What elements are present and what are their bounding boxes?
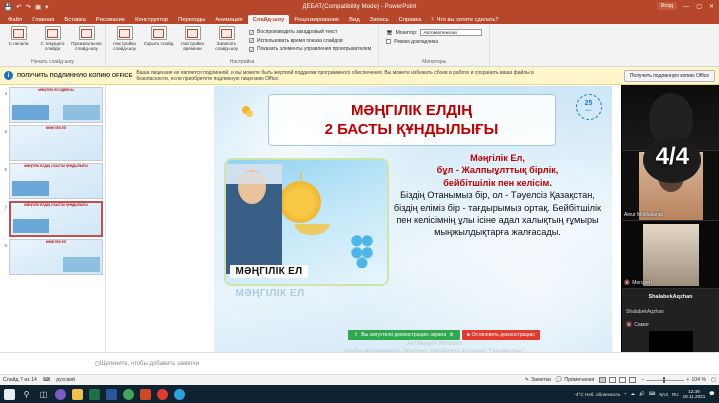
reading-view-icon[interactable] xyxy=(619,377,626,383)
notes-button[interactable]: ✎ Заметки xyxy=(525,377,551,383)
checkbox-presenter-view-label: Режим докладчика xyxy=(394,39,438,45)
tab-slideshow[interactable]: Слайд-шоу xyxy=(248,15,290,24)
thumbnail-image xyxy=(13,219,49,233)
monitor-controls: 🖥 Монитор: Автоматически Режим докладчик… xyxy=(382,26,486,45)
thumbnail-body xyxy=(10,131,102,136)
participant-name: Самат xyxy=(634,322,649,328)
monitor-label: Монитор: xyxy=(396,30,418,36)
word-icon[interactable] xyxy=(106,389,117,400)
chrome-icon[interactable] xyxy=(123,389,134,400)
fit-to-window-icon[interactable]: ▢ xyxy=(711,377,716,383)
participant-name-label: Ainur Moldakanat xyxy=(624,212,663,218)
camera-off-placeholder xyxy=(649,331,693,352)
activation-line-1: Активация Windows xyxy=(344,340,525,348)
chevron-up-icon[interactable]: ^ xyxy=(624,392,626,397)
kazakhstan-sun-icon xyxy=(279,181,321,223)
setup-show-label: Настройка слайд-шоу xyxy=(109,41,140,51)
checkbox-use-timings-label: Использовать время показа слайдов xyxy=(257,38,343,44)
rehearse-timings-icon xyxy=(185,26,201,40)
thumbnail-number: 8 xyxy=(2,239,7,248)
thumbnail-image-2 xyxy=(63,257,100,272)
from-current-slide-button[interactable]: С текущего слайда xyxy=(37,26,68,51)
minimize-icon[interactable]: — xyxy=(680,4,692,10)
president-portrait xyxy=(226,164,282,274)
zoom-out-button[interactable]: − xyxy=(641,377,644,383)
thumbnail-number: 6 xyxy=(2,163,7,172)
record-slideshow-label: Записать слайд-шоу xyxy=(211,41,242,51)
thumbnail-number: 4 xyxy=(2,87,7,96)
body-red-line-2: бұл - Жалпыұлттық бірлік, xyxy=(437,165,559,175)
thumbnail-preview-selected[interactable]: МӘҢГІЛІК ЕЛДІҢ 2 БАСТЫ ҚҰНДЫЛЫҒЫ xyxy=(9,201,103,237)
start-icon[interactable] xyxy=(4,389,15,400)
title-bar: 💾 ↶ ↷ ▣ ▾ ДЕБАТ(Compatibility Mode) - Po… xyxy=(0,0,719,13)
telegram-icon[interactable] xyxy=(174,389,185,400)
kazakhstan-eagle-icon xyxy=(277,224,347,246)
checkbox-presenter-view[interactable]: Режим докладчика xyxy=(386,39,482,45)
slideshow-current-icon xyxy=(45,26,61,40)
language-indicator-2[interactable]: RU xyxy=(672,392,679,397)
checkbox-use-timings[interactable]: Использовать время показа слайдов xyxy=(249,38,371,44)
slideshow-start-icon xyxy=(11,26,27,40)
checkbox-play-narrations[interactable]: Воспроизводить закадровый текст xyxy=(249,29,371,35)
tab-design[interactable]: Конструктор xyxy=(130,15,173,24)
thumbnail-title: МӘҢГІЛІК ЕЛДІҢ 2 БАСТЫ ҚҰНДЫЛЫҒЫ xyxy=(11,203,101,208)
active-speaker-header: ShalabekAqzhan xyxy=(622,289,719,305)
tab-home[interactable]: Главная xyxy=(27,15,59,24)
slide-thumbnail-5[interactable]: 5 МӘҢГІЛІК ЕЛ xyxy=(2,125,103,161)
participant-name: ShalabekAqzhan xyxy=(626,309,664,315)
ribbon-group-setup: Настройка слайд-шоу Скрыть слайд Настрой… xyxy=(106,24,379,66)
gear-icon[interactable]: ⚙ xyxy=(449,332,453,338)
maximize-icon[interactable]: ▢ xyxy=(693,3,705,10)
video-tile-shalabek[interactable]: ShalabekAqzhan 🔇 Самат xyxy=(622,305,719,352)
video-participants-panel[interactable]: Ainur Moldakanat 🔇 Meruyert ShalabekAqzh… xyxy=(621,85,719,352)
body-black-text: Біздің Отанымыз бір, ол - Тәуелсіз Қазақ… xyxy=(394,190,601,237)
checkbox-icon[interactable] xyxy=(386,39,391,44)
tab-review[interactable]: Рецензирование xyxy=(289,15,344,24)
thumbnail-title: МӘҢГІЛІК ЕЛ ИДЕЯСЫ xyxy=(10,88,102,93)
tab-transitions[interactable]: Переходы xyxy=(173,15,210,24)
system-tray[interactable]: -4°C Неб. облачность ^ ☁ 🔊 ⌨ ҚАЗ RU 12:3… xyxy=(574,389,715,399)
muted-mic-icon: 🔇 xyxy=(626,322,632,328)
tell-me-search[interactable]: ☿ Что вы хотите сделать? xyxy=(426,15,502,24)
zoom-level: 104 % xyxy=(691,377,706,383)
anniversary-seal: 25 жыл xyxy=(576,94,602,120)
sun-decoration-icon xyxy=(230,94,262,126)
sorter-view-icon[interactable] xyxy=(609,377,616,383)
seal-text: жыл xyxy=(586,107,592,114)
participant-name: Meruyert xyxy=(632,280,652,286)
from-current-label: С текущего слайда xyxy=(37,41,68,51)
document-title: ДЕБАТ(Compatibility Mode) - PowerPoint xyxy=(0,4,719,10)
status-bar: Слайд 7 из 14 ⌨ русский ✎ Заметки 💬 Прим… xyxy=(0,374,719,385)
genuine-office-warning-bar: i ПОЛУЧИТЬ ПОДЛИННУЮ КОПИЮ OFFICE Ваша л… xyxy=(0,67,719,85)
close-icon[interactable]: ✕ xyxy=(706,3,717,10)
zoom-in-button[interactable]: + xyxy=(686,377,689,383)
clock-date: 18.11.2021 xyxy=(683,394,706,399)
slide-title-line-1: МӘҢГІЛІК ЕЛДІҢ xyxy=(351,101,472,120)
explorer-icon[interactable] xyxy=(72,389,83,400)
participant-counter: 4/4 xyxy=(656,143,689,171)
thumbnail-number: 7 xyxy=(2,201,7,210)
screen-share-banner[interactable]: ⇧ Вы запустили демонстрацию экрана ⚙ ■ О… xyxy=(348,330,540,340)
stop-sharing-label: Остановить демонстрацию xyxy=(472,332,535,338)
setup-slideshow-button[interactable]: Настройка слайд-шоу xyxy=(109,26,140,51)
tab-insert[interactable]: Вставка xyxy=(59,15,91,24)
body-red-line-1: Мәңгілік Ел, xyxy=(470,153,525,163)
share-icon: ⇧ xyxy=(354,332,358,338)
thumbnail-image xyxy=(12,105,49,120)
checkbox-icon[interactable] xyxy=(249,47,254,52)
thumbnail-preview[interactable]: МӘҢГІЛІК ЕЛДІҢ 2 БАСТЫ ҚҰНДЫЛЫҒЫ xyxy=(9,163,103,199)
comments-button-label: Примечания xyxy=(564,377,594,383)
muted-mic-icon: 🔇 xyxy=(624,280,630,286)
language-label[interactable]: русский xyxy=(56,377,75,383)
status-bar-right: ✎ Заметки 💬 Примечания − + 104 % ▢ xyxy=(525,377,716,383)
notes-button-label: Заметки xyxy=(531,377,551,383)
screen-share-text: Вы запустили демонстрацию экрана xyxy=(361,332,446,338)
powerpoint-icon[interactable] xyxy=(140,389,151,400)
windows-activation-watermark: Активация Windows Чтобы активировать Win… xyxy=(344,340,525,352)
thumbnail-number: 5 xyxy=(2,125,7,134)
powerpoint-window: 💾 ↶ ↷ ▣ ▾ ДЕБАТ(Compatibility Mode) - Po… xyxy=(0,0,719,403)
windows-taskbar[interactable]: ⚲ ◫ -4°C Неб. облачность ^ ☁ 🔊 ⌨ ҚАЗ RU … xyxy=(0,385,719,403)
rehearse-timings-button[interactable]: Настройка времени xyxy=(177,26,208,51)
image-caption-shadow: МӘҢГІЛІК ЕЛ xyxy=(236,288,305,299)
thumbnail-title: МӘҢГІЛІК ЕЛ xyxy=(10,240,102,245)
participant-name: Ainur Moldakanat xyxy=(624,212,663,218)
group-title-monitors: Мониторы xyxy=(382,59,486,66)
stop-sharing-button[interactable]: ■ Остановить демонстрацию xyxy=(462,330,540,340)
work-area: 4 МӘҢГІЛІК ЕЛ ИДЕЯСЫ 5 МӘҢГІЛІК ЕЛ 6 МӘҢ… xyxy=(0,85,719,352)
slide-image-flag-portrait[interactable]: МӘҢГІЛІК ЕЛ xyxy=(224,158,389,286)
notes-resize-handle[interactable] xyxy=(95,361,100,366)
slide-title[interactable]: МӘҢГІЛІК ЕЛДІҢ 2 БАСТЫ ҚҰНДЫЛЫҒЫ xyxy=(268,94,556,146)
warning-headline: ПОЛУЧИТЬ ПОДЛИННУЮ КОПИЮ OFFICE xyxy=(17,73,132,79)
tab-animations[interactable]: Анимация xyxy=(210,15,247,24)
slide-counter[interactable]: Слайд 7 из 14 xyxy=(3,377,37,383)
from-beginning-label: С начала xyxy=(9,41,29,46)
notes-pane[interactable]: Щелкните, чтобы добавить заметки xyxy=(0,352,719,374)
custom-show-icon xyxy=(79,26,95,40)
task-view-icon[interactable]: ◫ xyxy=(38,389,49,400)
slide-body-text[interactable]: Мәңгілік Ел, бұл - Жалпыұлттық бірлік, б… xyxy=(392,152,604,239)
tab-record[interactable]: Запись xyxy=(365,15,394,24)
from-beginning-button[interactable]: С начала xyxy=(3,26,34,46)
body-red-line-3: бейбітшілік пен келісім xyxy=(443,178,549,188)
checkbox-show-media-controls[interactable]: Показать элементы управления проигрывате… xyxy=(249,46,371,52)
tab-help[interactable]: Справка xyxy=(394,15,427,24)
thumbnail-image-2 xyxy=(63,105,100,120)
monitor-selector-row[interactable]: 🖥 Монитор: Автоматически xyxy=(386,29,482,36)
zoom-icon[interactable] xyxy=(157,389,168,400)
video-tile-meruyert[interactable]: 🔇 Meruyert xyxy=(622,221,719,289)
rehearse-timings-label: Настройка времени xyxy=(177,41,208,51)
record-slideshow-icon xyxy=(219,26,235,40)
keyboard-icon[interactable]: ⌨ xyxy=(649,391,656,397)
tell-me-label: Что вы хотите сделать? xyxy=(437,17,499,23)
participant-name-label: 🔇 Самат xyxy=(626,322,649,328)
setup-show-icon xyxy=(117,26,133,40)
hide-slide-icon xyxy=(151,26,167,40)
slideshow-view-icon[interactable] xyxy=(629,377,636,383)
window-controls[interactable]: — ▢ ✕ xyxy=(680,0,717,13)
normal-view-icon[interactable] xyxy=(599,377,606,383)
slide-thumbnail-8[interactable]: 8 МӘҢГІЛІК ЕЛ xyxy=(2,239,103,275)
notification-icon[interactable]: 💬 xyxy=(709,391,715,397)
checkbox-icon[interactable] xyxy=(249,38,254,43)
sound-icon[interactable]: 🔊 xyxy=(639,391,645,397)
tab-draw[interactable]: Рисование xyxy=(91,15,130,24)
setup-checkbox-list: Воспроизводить закадровый текст Использо… xyxy=(245,26,375,52)
participant-name-label: 🔇 Meruyert xyxy=(624,280,652,286)
ribbon-group-monitors: 🖥 Монитор: Автоматически Режим докладчик… xyxy=(379,24,490,66)
record-slideshow-button[interactable]: Записать слайд-шоу xyxy=(211,26,242,51)
slide-thumbnail-7[interactable]: 7 МӘҢГІЛІК ЕЛДІҢ 2 БАСТЫ ҚҰНДЫЛЫҒЫ xyxy=(2,201,103,237)
zoom-slider[interactable]: − + 104 % xyxy=(641,377,706,383)
lightbulb-icon: ☿ xyxy=(430,17,434,23)
thumbnail-preview[interactable]: МӘҢГІЛІК ЕЛ xyxy=(9,125,103,161)
language-indicator[interactable]: ҚАЗ xyxy=(660,392,668,397)
ornament-icon xyxy=(349,234,375,268)
excel-icon[interactable] xyxy=(89,389,100,400)
monitor-icon: 🖥 xyxy=(386,30,392,36)
tab-view[interactable]: Вид xyxy=(344,15,365,24)
checkbox-play-narrations-label: Воспроизводить закадровый текст xyxy=(257,29,337,35)
hide-slide-label: Скрыть слайд xyxy=(144,41,174,46)
get-genuine-office-button[interactable]: Получить подлинную копию Office xyxy=(624,70,715,82)
language-icon[interactable]: ⌨ xyxy=(43,377,51,383)
weather-widget[interactable]: -4°C Неб. облачность xyxy=(574,392,620,397)
taskbar-clock[interactable]: 12:39 18.11.2021 xyxy=(683,389,706,399)
group-title-setup: Настройка xyxy=(109,59,375,66)
monitor-dropdown[interactable]: Автоматически xyxy=(420,29,482,36)
slide-title-line-2: 2 БАСТЫ ҚҰНДЫЛЫҒЫ xyxy=(325,120,499,139)
comment-icon: 💬 xyxy=(556,377,562,383)
view-buttons[interactable] xyxy=(599,377,636,383)
checkbox-show-media-controls-label: Показать элементы управления проигрывате… xyxy=(257,46,371,52)
zoom-track[interactable] xyxy=(646,380,684,381)
custom-show-label: Произвольное слайд-шоу xyxy=(71,41,102,51)
slide-thumbnail-pane[interactable]: 4 МӘҢГІЛІК ЕЛ ИДЕЯСЫ 5 МӘҢГІЛІК ЕЛ 6 МӘҢ… xyxy=(0,85,106,352)
custom-slideshow-button[interactable]: Произвольное слайд-шоу xyxy=(71,26,102,51)
thumbnail-preview[interactable]: МӘҢГІЛІК ЕЛ xyxy=(9,239,103,275)
warning-message: Ваша лицензия не является подлинной, и в… xyxy=(136,70,556,82)
info-icon: i xyxy=(4,71,13,80)
network-icon[interactable]: ☁ xyxy=(631,391,636,397)
notes-placeholder: Щелкните, чтобы добавить заметки xyxy=(100,361,199,367)
slide-thumbnail-6[interactable]: 6 МӘҢГІЛІК ЕЛДІҢ 2 БАСТЫ ҚҰНДЫЛЫҒЫ xyxy=(2,163,103,199)
tab-file[interactable]: Файл xyxy=(3,15,27,24)
thumbnail-preview[interactable]: МӘҢГІЛІК ЕЛ ИДЕЯСЫ xyxy=(9,87,103,123)
screen-share-status[interactable]: ⇧ Вы запустили демонстрацию экрана ⚙ xyxy=(348,330,460,340)
image-caption: МӘҢГІЛІК ЕЛ xyxy=(230,265,309,278)
search-icon[interactable]: ⚲ xyxy=(21,389,32,400)
thumbnail-image xyxy=(12,181,49,196)
seal-number: 25 xyxy=(585,100,593,107)
checkbox-icon[interactable] xyxy=(249,30,254,35)
stop-icon: ■ xyxy=(467,332,470,338)
ribbon-body: С начала С текущего слайда Произвольное … xyxy=(0,24,719,67)
ribbon-tabs[interactable]: Файл Главная Вставка Рисование Конструкт… xyxy=(0,13,719,24)
notes-icon: ✎ xyxy=(525,377,529,383)
hide-slide-button[interactable]: Скрыть слайд xyxy=(143,26,174,46)
current-slide[interactable]: 25 жыл МӘҢГІЛІК ЕЛДІҢ 2 БАСТЫ ҚҰНДЫЛЫҒЫ … xyxy=(214,86,612,352)
cortana-icon[interactable] xyxy=(55,389,66,400)
thumbnail-title: МӘҢГІЛІК ЕЛДІҢ 2 БАСТЫ ҚҰНДЫЛЫҒЫ xyxy=(10,164,102,169)
sign-in-button[interactable]: Вход xyxy=(657,2,677,10)
ribbon-group-start-slideshow: С начала С текущего слайда Произвольное … xyxy=(0,24,106,66)
comments-button[interactable]: 💬 Примечания xyxy=(556,377,594,383)
slide-thumbnail-4[interactable]: 4 МӘҢГІЛІК ЕЛ ИДЕЯСЫ xyxy=(2,87,103,123)
group-title-start-slideshow: Начать слайд-шоу xyxy=(3,59,102,66)
participant-video-frame xyxy=(643,224,699,286)
